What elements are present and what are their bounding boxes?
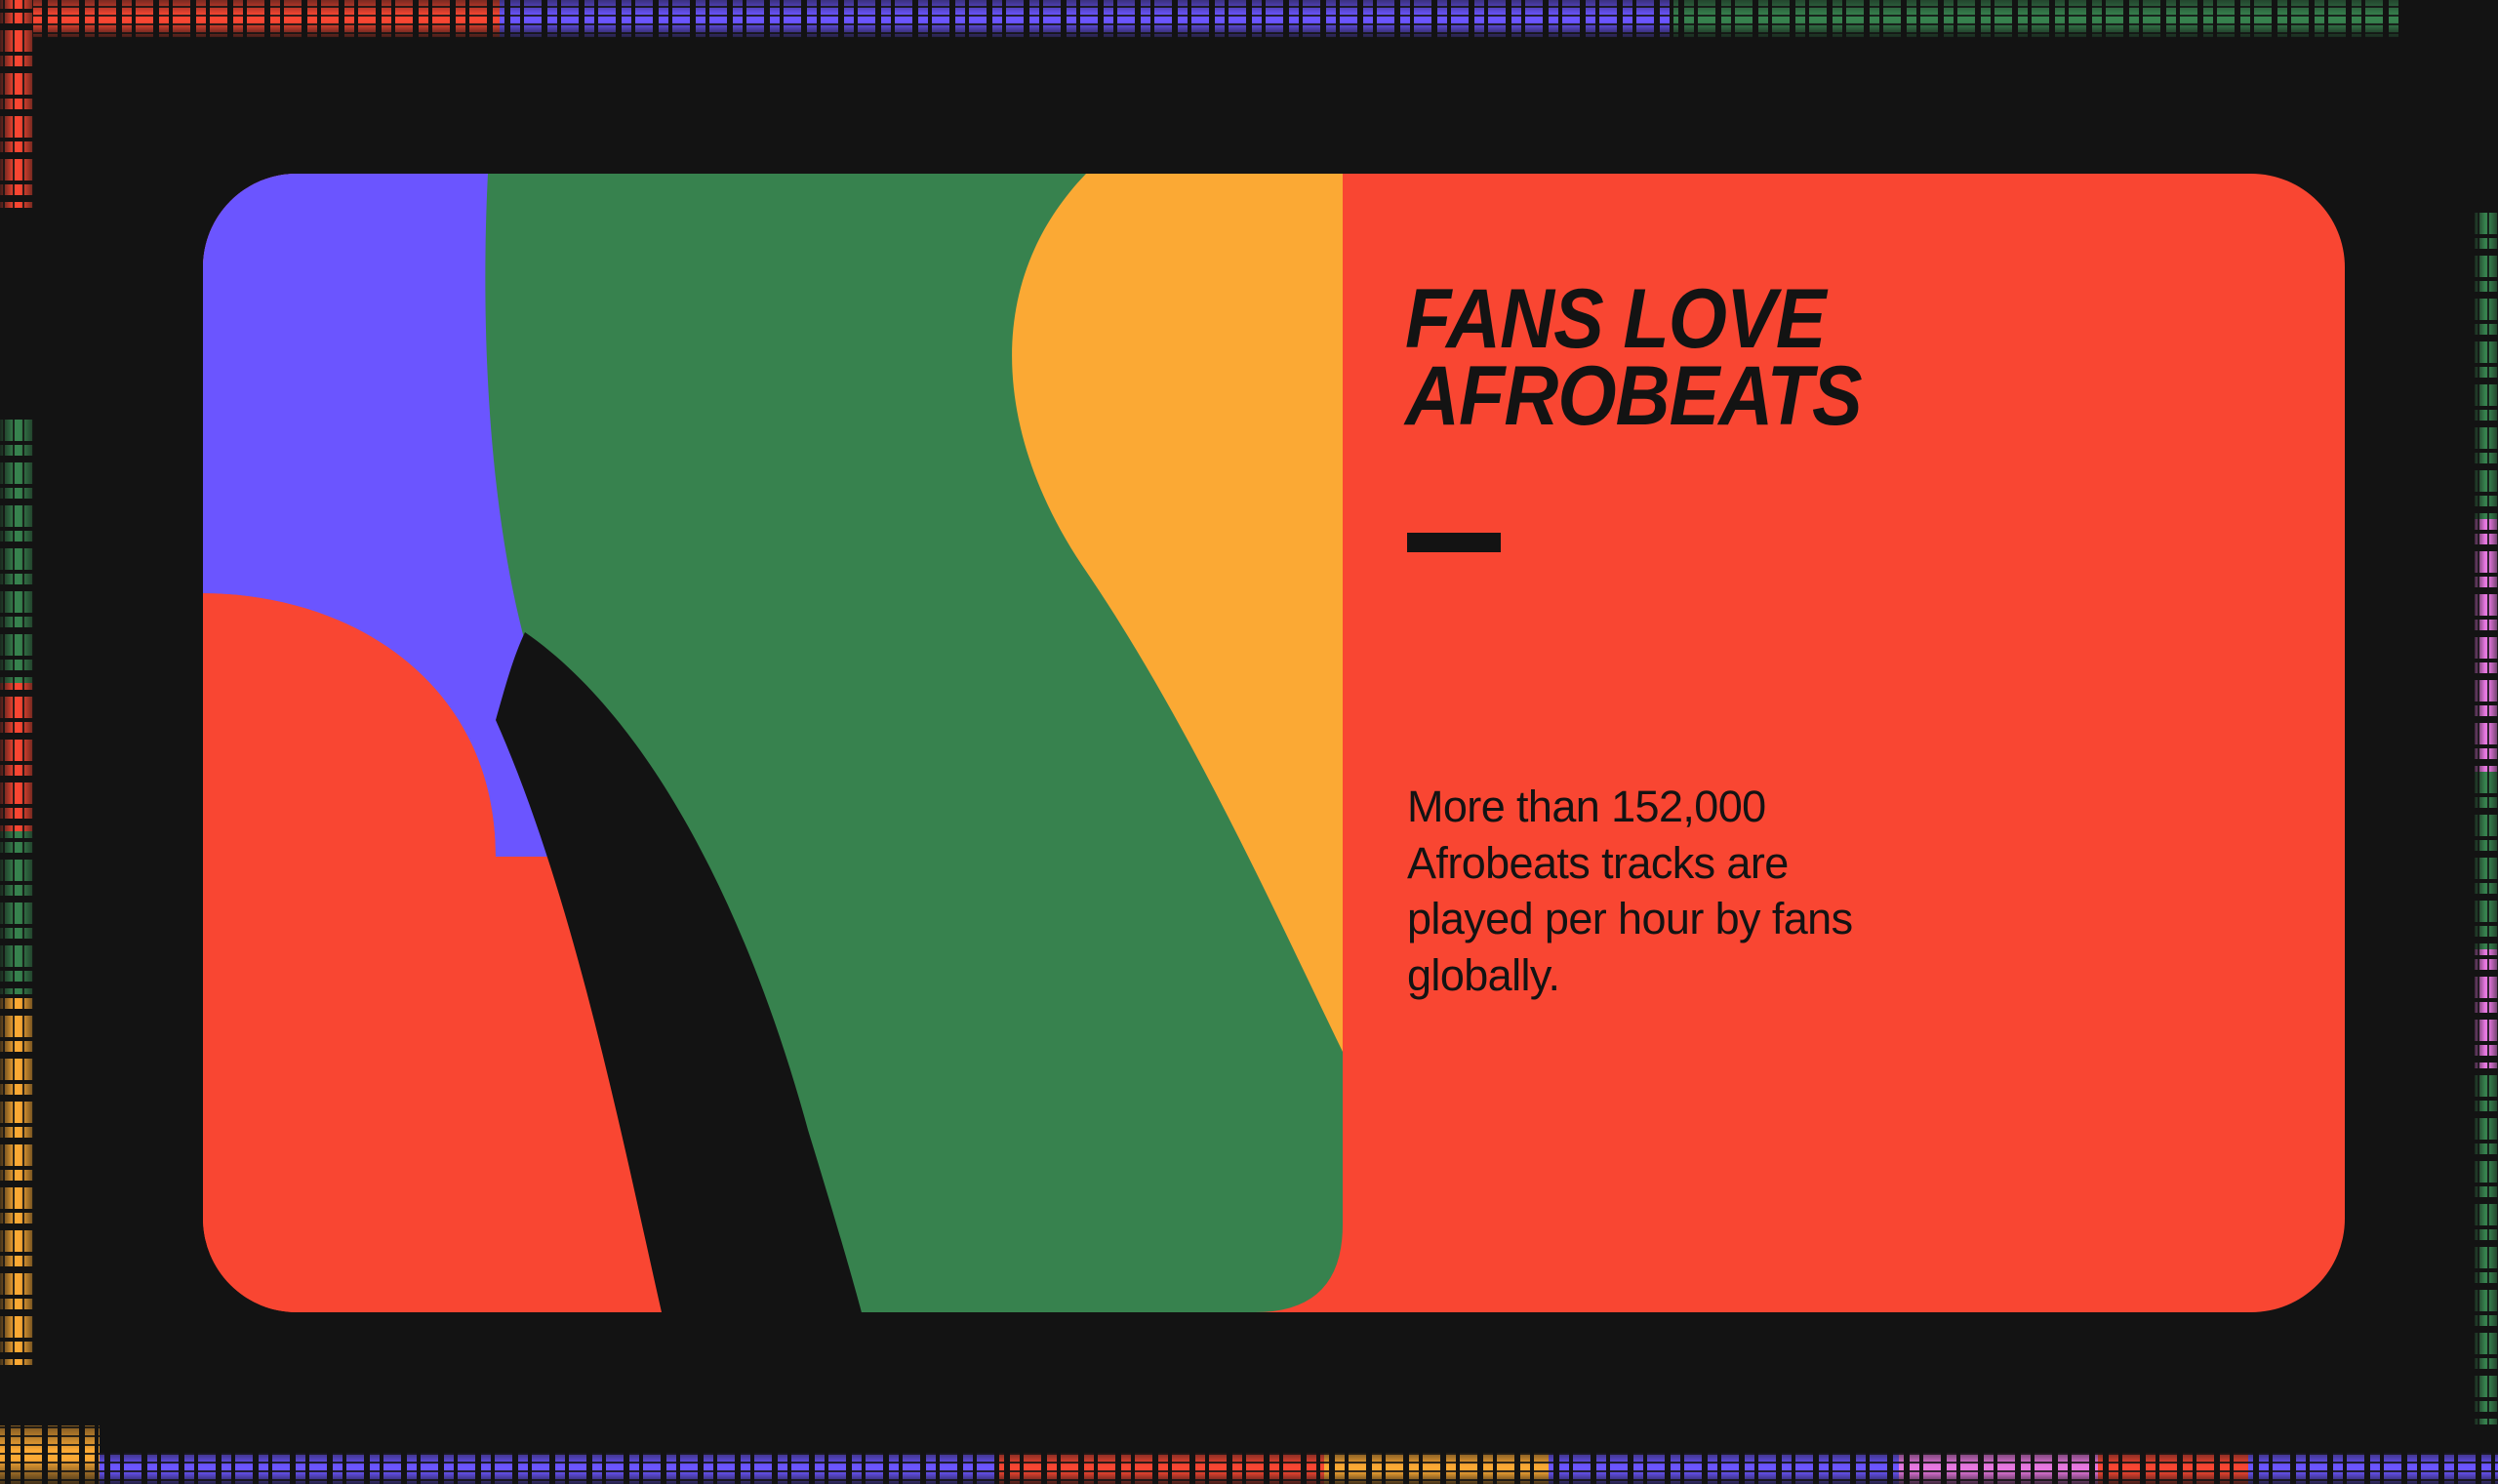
frame-segment-bottom-purple-1 xyxy=(100,1453,999,1484)
page-title: FANS LOVE AFROBEATS xyxy=(1405,281,1862,435)
frame-segment-right-pink-1 xyxy=(2475,519,2498,772)
frame-segment-bottom-red-2 xyxy=(2098,1453,2248,1484)
frame-edge-right xyxy=(2465,0,2498,1484)
frame-segment-left-red-1 xyxy=(0,0,33,208)
frame-segment-left-green-1 xyxy=(0,416,33,683)
frame-segment-left-green-2 xyxy=(0,831,33,994)
frame-segment-bottom-orange-2 xyxy=(1324,1453,1549,1484)
frame-segment-left-orange xyxy=(0,994,33,1365)
frame-edge-bottom xyxy=(0,1425,2498,1484)
frame-edge-left xyxy=(0,0,33,1484)
frame-segment-top-red xyxy=(0,0,500,37)
frame-segment-right-green-3 xyxy=(2475,1068,2498,1424)
frame-segment-top-green xyxy=(1673,0,2397,37)
frame-segment-left-red-2 xyxy=(0,683,33,831)
card-copy: FANS LOVE AFROBEATS More than 152,000 Af… xyxy=(1405,174,2283,1312)
frame-segment-bottom-red-1 xyxy=(999,1453,1324,1484)
frame-segment-top-purple xyxy=(500,0,1673,37)
frame-segment-bottom-orange-1 xyxy=(0,1425,100,1484)
content-card: FANS LOVE AFROBEATS More than 152,000 Af… xyxy=(203,174,2345,1312)
slide-canvas: FANS LOVE AFROBEATS More than 152,000 Af… xyxy=(0,0,2498,1484)
divider-rule xyxy=(1407,533,1501,552)
frame-segment-bottom-purple-2 xyxy=(1549,1453,1898,1484)
frame-segment-bottom-purple-3 xyxy=(2248,1453,2498,1484)
body-paragraph: More than 152,000 Afrobeats tracks are p… xyxy=(1407,779,1866,1003)
frame-segment-right-green-1 xyxy=(2475,208,2498,519)
frame-segment-right-pink-2 xyxy=(2475,949,2498,1068)
frame-edge-top xyxy=(0,0,2498,37)
frame-segment-right-green-2 xyxy=(2475,772,2498,950)
abstract-artwork xyxy=(203,174,1343,1312)
frame-segment-bottom-pink xyxy=(1899,1453,2099,1484)
